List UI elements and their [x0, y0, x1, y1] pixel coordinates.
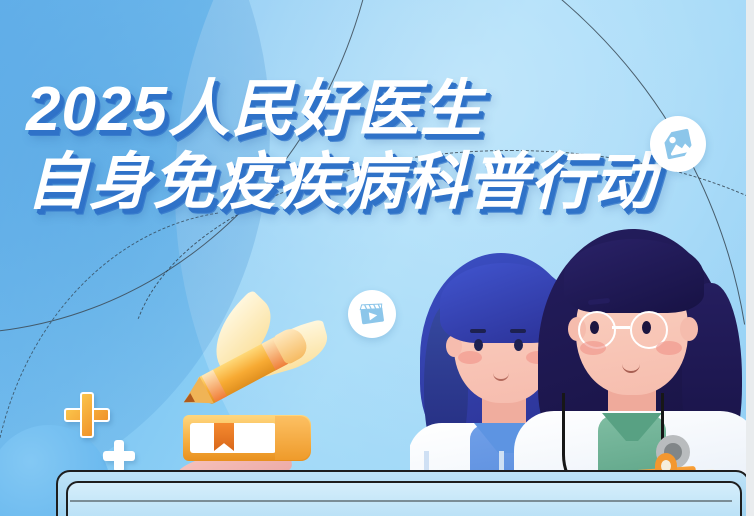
- doctor-left-blush-left: [458, 351, 482, 364]
- video-clapperboard-icon[interactable]: [348, 290, 396, 338]
- doctor-right-blush-left: [580, 341, 606, 355]
- doctor-left-brow-right: [510, 329, 526, 333]
- doctor-right-glasses: [578, 311, 690, 345]
- glasses-bridge: [612, 326, 630, 329]
- poster-background: 2025人民好医生 自身免疫疾病科普行动: [0, 0, 746, 516]
- poster-title: 2025人民好医生 自身免疫疾病科普行动: [26, 78, 686, 214]
- plus-orange-icon: [64, 392, 110, 438]
- doctor-right-blush-right: [656, 341, 682, 355]
- doctor-right-hair-front: [564, 239, 704, 313]
- title-line-1: 2025人民好医生: [26, 78, 686, 141]
- title-line-2: 自身免疫疾病科普行动: [26, 151, 686, 214]
- book-spine: [275, 416, 310, 460]
- right-edge-strip: [746, 0, 754, 516]
- doctor-left-eye-left: [474, 339, 483, 351]
- poster-banner: 2025人民好医生 自身免疫疾病科普行动: [0, 0, 754, 516]
- doctor-left-eye-right: [514, 339, 523, 351]
- orange-book: [183, 415, 311, 461]
- counter-desk-front: [66, 481, 742, 516]
- counter-desk-edge-line: [70, 500, 732, 502]
- plus-white-icon: [103, 440, 135, 472]
- doctor-left-brow-left: [470, 329, 486, 333]
